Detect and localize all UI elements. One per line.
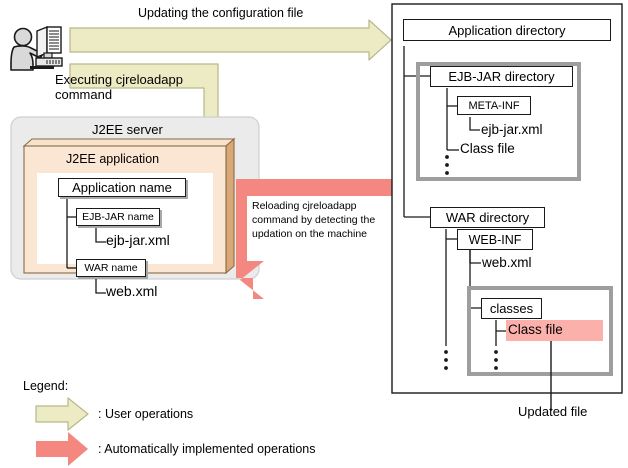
node-ejb-jar-xml: ejb-jar.xml xyxy=(106,232,170,248)
arrow-update-caption: Updating the configuration file xyxy=(138,6,303,20)
arrow-update-config-file xyxy=(70,20,391,60)
j2ee-server-title: J2EE server xyxy=(92,122,163,137)
arrow-reload-caption: Reloading cjreloadapp command by detecti… xyxy=(252,200,375,242)
updated-file-label: Updated file xyxy=(518,404,587,419)
node-ejb-jar-name: EJB-JAR name xyxy=(76,208,160,226)
legend-red-arrow-icon xyxy=(36,432,88,466)
node-ejb-jar-xml-right: ejb-jar.xml xyxy=(481,122,543,137)
node-web-inf: WEB-INF xyxy=(457,229,533,250)
ellipsis-dots-war xyxy=(444,350,448,370)
j2ee-application-title: J2EE application xyxy=(66,152,159,166)
legend-yellow-arrow-icon xyxy=(36,398,88,430)
node-war-directory: WAR directory xyxy=(430,207,545,228)
node-ejb-jar-directory: EJB-JAR directory xyxy=(430,66,573,87)
node-application-directory: Application directory xyxy=(403,19,611,41)
node-war-name: WAR name xyxy=(76,259,146,277)
diagram-canvas: Updating the configuration file Executin… xyxy=(0,0,628,468)
node-classes: classes xyxy=(481,298,542,319)
node-class-file-ejb: Class file xyxy=(460,141,515,156)
ellipsis-dots-ejb xyxy=(445,155,449,175)
node-class-file-war: Class file xyxy=(508,322,563,337)
node-web-xml: web.xml xyxy=(106,283,157,299)
legend-heading: Legend: xyxy=(23,379,68,393)
user-at-computer-icon xyxy=(11,27,62,70)
ellipsis-dots-classes xyxy=(494,350,498,370)
node-meta-inf: META-INF xyxy=(457,96,531,115)
node-application-name: Application name xyxy=(58,178,186,197)
node-web-xml-right: web.xml xyxy=(482,255,532,270)
legend-entry-automatic-operations: : Automatically implemented operations xyxy=(98,442,315,456)
legend-entry-user-operations: : User operations xyxy=(98,407,193,421)
arrow-execute-caption: Executing cjreloadapp command xyxy=(55,72,183,103)
